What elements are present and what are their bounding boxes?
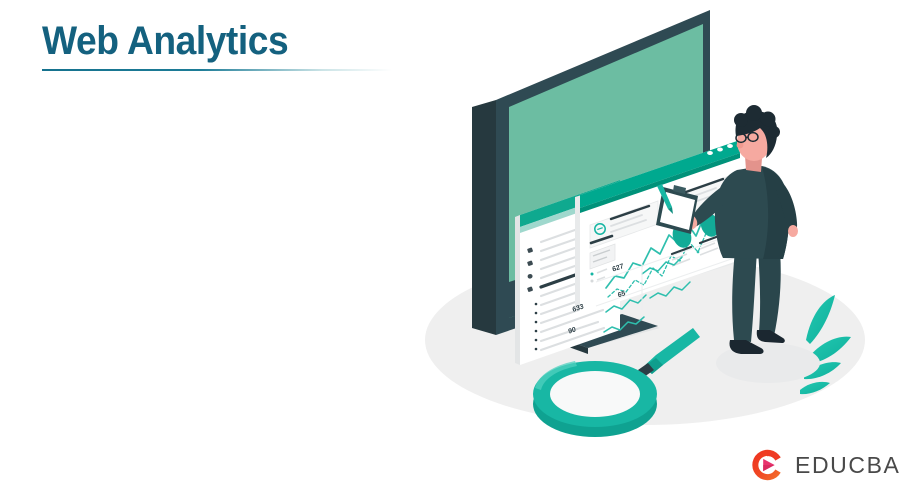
person-hair-curl-3 [761,112,776,127]
title-underline-rule [42,69,392,71]
person-hair-curl-4 [768,126,780,138]
educba-logo-text: EDUCBA [795,454,900,477]
page-title: Web Analytics [42,18,377,64]
page-root: Web Analytics [0,0,900,500]
web-analytics-illustration: 627 633 65 90 [410,10,880,440]
monitor-side-panel [472,100,496,335]
person-hair-curl-2 [746,105,762,121]
educba-logo-mark [748,446,786,484]
title-block: Web Analytics [42,18,402,71]
person-hand-left [788,225,798,237]
sidebar-card-side [515,215,520,365]
educba-logo[interactable]: EDUCBA [748,446,900,484]
person-hair-curl-1 [734,113,748,127]
magnifier-lens [550,371,640,417]
